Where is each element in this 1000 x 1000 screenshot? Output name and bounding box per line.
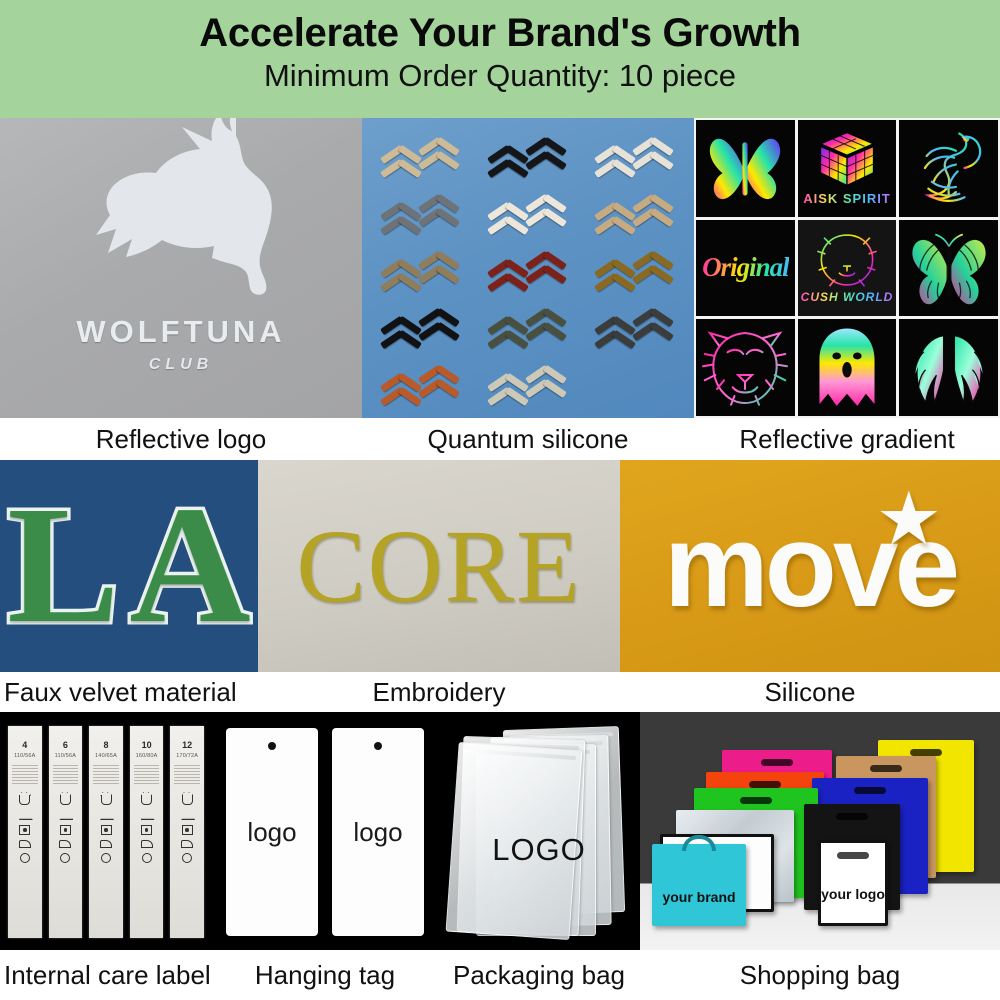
iron-icon (59, 840, 71, 848)
shopping-bag-label: your brand (652, 889, 746, 905)
velvet-letter-l: L (7, 500, 119, 631)
packaging-bag-stack: LOGO (448, 724, 630, 938)
care-instruction-text (134, 765, 160, 786)
chenille-letters: L A (0, 460, 258, 672)
grad-cell-butterfly (696, 120, 795, 217)
iron-icon (19, 840, 31, 848)
care-symbol-group (100, 795, 112, 863)
shopping-bag: your logo (818, 840, 888, 926)
do-not-dry-clean-icon (182, 853, 192, 863)
care-instruction-text (93, 765, 119, 786)
grad-cell-original-script: Original (696, 220, 795, 317)
page-title: Accelerate Your Brand's Growth (199, 12, 800, 54)
do-not-bleach-icon (19, 810, 31, 820)
grad-cell-butterfly-outline (899, 220, 998, 317)
iron-icon (100, 840, 112, 848)
care-instruction-text (174, 765, 200, 786)
chevron-swatch (368, 240, 475, 297)
care-label-strip: 12170/72A (170, 726, 204, 938)
grad-cell-angel-wings (899, 319, 998, 416)
ghost-icon (809, 325, 885, 411)
tag-hole-icon (268, 742, 276, 750)
chevron-swatch (581, 298, 688, 355)
iron-icon (181, 840, 193, 848)
chevron-swatch (368, 298, 475, 355)
caption-packaging-bag: Packaging bag (438, 950, 640, 1000)
caption-reflective-logo: Reflective logo (0, 418, 362, 460)
hang-tag-label: logo (247, 817, 296, 848)
lion-head-icon (813, 231, 881, 289)
do-not-dry-clean-icon (142, 853, 152, 863)
caption-shopping-bag: Shopping bag (640, 950, 1000, 1000)
butterfly-outline-icon (906, 227, 992, 309)
shopping-bag-label: your logo (821, 886, 885, 902)
bag-handle-slot (740, 797, 772, 804)
chevron-swatch (475, 183, 582, 240)
do-not-dry-clean-icon (101, 853, 111, 863)
chevron-swatch (475, 298, 582, 355)
grad-label-aisk-spirit: AISK SPIRIT (803, 191, 891, 206)
do-not-dry-clean-icon (60, 853, 70, 863)
caption-embroidery: Embroidery (258, 672, 620, 712)
caption-quantum-silicone: Quantum silicone (362, 418, 694, 460)
hand-wash-icon (101, 795, 112, 805)
bag-handle-slot (836, 813, 868, 820)
chevron-swatch (581, 126, 688, 183)
chevron-swatch-grid (368, 126, 688, 412)
caption-internal-care-label: Internal care label (0, 950, 212, 1000)
tumble-dry-icon (182, 825, 193, 835)
do-not-bleach-icon (100, 810, 112, 820)
chevron-swatch (368, 126, 475, 183)
panel-reflective-logo: WOLFTUNA CLUB (0, 118, 362, 418)
panel-quantum-silicone (362, 118, 694, 418)
tumble-dry-icon (101, 825, 112, 835)
care-symbol-group (141, 795, 153, 863)
chevron-swatch (475, 240, 582, 297)
bag-handle-slot (870, 765, 902, 772)
grad-cell-ghost (798, 319, 897, 416)
do-not-bleach-icon (59, 810, 71, 820)
do-not-bleach-icon (141, 810, 153, 820)
chevron-swatch (475, 355, 582, 412)
hang-tag-label: logo (353, 817, 402, 848)
chevron-swatch (368, 355, 475, 412)
panel-hanging-tag: logo logo (212, 712, 438, 950)
do-not-bleach-icon (181, 810, 193, 820)
care-label-strip-group: 4110/56A6110/56A8140/65A10160/80A12170/7… (8, 726, 204, 938)
caption-silicone: Silicone (620, 672, 1000, 712)
tumble-dry-icon (141, 825, 152, 835)
wolf-shark-icon (0, 118, 362, 318)
tag-hole-icon (374, 742, 382, 750)
care-size-code: 110/56A (14, 753, 35, 759)
care-size-number: 10 (142, 740, 152, 750)
care-label-strip: 4110/56A (8, 726, 42, 938)
care-size-code: 170/72A (176, 753, 198, 759)
angel-wings-icon (904, 328, 994, 408)
moq-subtitle: Minimum Order Quantity: 10 piece (264, 60, 736, 93)
hand-wash-icon (141, 795, 152, 805)
shopping-bag-group: your brandyour logo (640, 712, 1000, 950)
rubiks-cube-icon (815, 130, 879, 188)
brand-wordmark: WOLFTUNA (0, 314, 362, 350)
hand-wash-icon (19, 795, 30, 805)
packaging-logo-text: LOGO (448, 832, 630, 868)
tiger-head-icon (701, 326, 789, 410)
chevron-swatch (581, 183, 688, 240)
care-symbol-group (181, 795, 193, 863)
star-icon: ★ (876, 482, 942, 556)
care-instruction-text (12, 765, 38, 786)
care-instruction-text (53, 765, 79, 786)
care-size-code: 140/65A (95, 753, 117, 759)
bag-handle-slot (837, 852, 869, 859)
chevron-swatch (581, 240, 688, 297)
hang-tag-group: logo logo (226, 728, 424, 936)
chevron-swatch (581, 355, 688, 412)
reflective-logo-artwork: WOLFTUNA CLUB (0, 118, 362, 418)
header-banner: Accelerate Your Brand's Growth Minimum O… (0, 0, 1000, 118)
grad-label-cush-world: CUSH WORLD (801, 290, 894, 304)
grad-cell-phoenix (899, 120, 998, 217)
grad-cell-rubiks-cube: AISK SPIRIT (798, 120, 897, 217)
caption-reflective-gradient: Reflective gradient (694, 418, 1000, 460)
bag-handle-slot (761, 759, 793, 766)
grad-cell-tiger-head (696, 319, 795, 416)
grad-label-original: Original (702, 252, 789, 283)
care-label-strip: 6110/56A (49, 726, 83, 938)
caption-hanging-tag: Hanging tag (212, 950, 438, 1000)
shopping-bag: your brand (652, 844, 746, 926)
product-infographic: Accelerate Your Brand's Growth Minimum O… (0, 0, 1000, 1000)
panel-packaging-bag: LOGO (438, 712, 640, 950)
care-symbol-group (19, 795, 31, 863)
care-size-number: 8 (103, 740, 108, 750)
panel-silicone: move ★ (620, 460, 1000, 672)
hang-tag: logo (332, 728, 424, 936)
hang-tag: logo (226, 728, 318, 936)
iron-icon (141, 840, 153, 848)
care-size-number: 4 (22, 740, 27, 750)
bag-handle-slot (749, 781, 781, 788)
panel-internal-care-label: 4110/56A6110/56A8140/65A10160/80A12170/7… (0, 712, 212, 950)
chevron-swatch (368, 183, 475, 240)
care-symbol-group (59, 795, 71, 863)
care-size-number: 12 (182, 740, 192, 750)
panel-embroidery: CORE (258, 460, 620, 672)
care-size-code: 160/80A (136, 753, 158, 759)
panel-faux-velvet: L A (0, 460, 258, 672)
caption-faux-velvet: Faux velvet material (0, 672, 258, 712)
care-label-strip: 8140/65A (89, 726, 123, 938)
chevron-swatch (475, 126, 582, 183)
care-label-strip: 10160/80A (130, 726, 164, 938)
panel-reflective-gradient: AISK SPIRIT (694, 118, 1000, 418)
brand-sub-wordmark: CLUB (0, 356, 362, 374)
hand-wash-icon (60, 795, 71, 805)
holographic-design-grid: AISK SPIRIT (694, 118, 1000, 418)
do-not-dry-clean-icon (20, 853, 30, 863)
butterfly-icon (702, 125, 788, 211)
phoenix-icon (906, 125, 992, 211)
panel-shopping-bag: your brandyour logo (640, 712, 1000, 950)
tumble-dry-icon (60, 825, 71, 835)
care-size-code: 110/56A (55, 753, 76, 759)
care-size-number: 6 (63, 740, 68, 750)
silicone-artwork: move ★ (620, 460, 1000, 672)
bag-handle-slot (910, 749, 942, 756)
tumble-dry-icon (19, 825, 30, 835)
velvet-letter-a: A (129, 500, 250, 631)
bag-handle-slot (854, 787, 886, 794)
hand-wash-icon (182, 795, 193, 805)
embroidery-text: CORE (258, 460, 620, 672)
grad-cell-lion-head: CUSH WORLD (798, 220, 897, 317)
